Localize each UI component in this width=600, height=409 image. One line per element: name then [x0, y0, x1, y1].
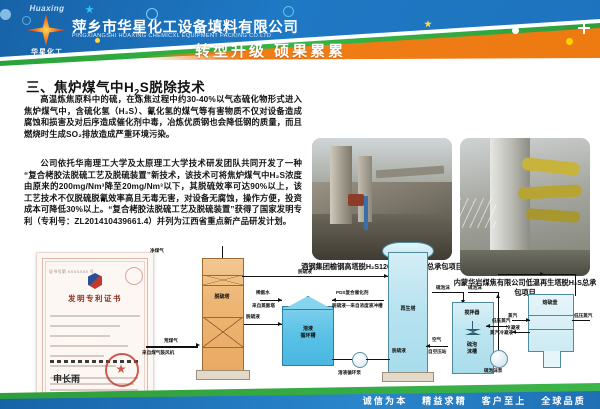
label-regen-tower: 再生塔 [389, 306, 427, 313]
article-paragraph-1: 高温炼焦原料中的硫，在炼焦过程中约30-40%以气态硫化物形式进入焦炉煤气中，含… [24, 94, 302, 140]
page-header: Huaxing 华星化工 萍乡市华星化工设备填料有限公司 PINGXIANGSH… [0, 0, 600, 66]
label-desulf-waste: 脱硫液—来自浓度液冲槽 [332, 303, 383, 309]
pipe-low-press-steam-2 [572, 320, 590, 321]
star-burst-icon [26, 14, 66, 46]
footer-slogan-1: 诚信为本 [363, 396, 408, 406]
certificate-red-seal [105, 353, 139, 387]
label-circulation-tank: 溶液循环槽 [284, 326, 332, 339]
pipe-circ-out [366, 359, 390, 360]
arrow-icon [496, 294, 500, 298]
pipe-pds-catalyst [332, 300, 384, 301]
certificate-number: 证书号第 XXXXXXX 号 [49, 269, 94, 275]
arrow-icon [196, 343, 200, 347]
photo-jiugang [312, 138, 452, 260]
footer-slogans: 诚信为本 精益求精 客户至上 全球品质 [0, 394, 600, 407]
pipe-sulfur-foam-1 [432, 292, 464, 293]
label-desulf-tower: 脱硫塔 [203, 294, 241, 301]
footer-slogan-3: 客户至上 [482, 396, 527, 406]
kettle-divider [529, 315, 573, 316]
photo-tower [490, 138, 530, 262]
arrow-icon [426, 344, 430, 348]
label-sulfur-foam-pump: 硫泡沫泵 [484, 368, 502, 374]
label-foam-tank: 硫泡沫槽 [453, 342, 491, 355]
certificate-line [50, 325, 120, 327]
tank-roof [282, 296, 334, 310]
decor-circle-filled [0, 9, 11, 20]
plus-icon [578, 22, 590, 34]
tower-foundation [196, 370, 250, 380]
tower-packing-icon [203, 275, 243, 285]
label-dilute-ammonia: 稀氨水 [256, 290, 270, 296]
tower-divider [203, 285, 243, 286]
footer-slogan-4: 全球品质 [541, 396, 586, 406]
footer-slogan-2: 精益求精 [422, 396, 467, 406]
logo-wordmark: Huaxing [14, 4, 80, 13]
label-desulf-liquid-side: 脱硫液 [246, 314, 260, 320]
label-air: 空气 [432, 337, 441, 343]
certificate-line [50, 335, 110, 337]
arrow-icon [526, 318, 530, 322]
label-raw-gas: 荒煤气 [164, 338, 178, 344]
pipe-clean-gas [222, 246, 223, 258]
label-clean-gas: 净煤气 [150, 248, 164, 254]
label-sulfur-foam-1: 硫泡沫 [436, 285, 450, 291]
certificate-stamp-circle [125, 267, 143, 285]
arrow-icon [278, 298, 282, 302]
vessel-desulf-tower [202, 258, 244, 372]
kettle-outlet [543, 351, 561, 368]
pipe-foam-riser [498, 292, 499, 350]
label-condensate: 冷凝液 [506, 325, 520, 331]
photo-yellow-pipe [526, 208, 581, 223]
label-from-air-station: 自空压站 [428, 349, 446, 355]
photo-scaffold [460, 198, 496, 228]
company-name-en: PINGXIANGSHI HUAXING CHEMICXL EQUIPMENT … [72, 33, 271, 39]
arrow-icon [486, 324, 490, 328]
label-stirrer: 搅拌器 [453, 310, 491, 317]
vessel-regen-tower [388, 252, 428, 374]
label-circulation-pump: 溶液循环泵 [338, 370, 361, 376]
arrow-icon [540, 272, 544, 276]
pipe-circ-in [332, 359, 352, 360]
paragraph-2-text: 公司依托华南理工大学及太原理工大学技术研发团队共同开发了一种“复合栲胶法脱硫工艺… [24, 158, 302, 226]
pipe-kettle-feed [498, 274, 576, 275]
photo-equipment [348, 194, 364, 206]
label-sulfur-kettle: 熔硫釜 [529, 300, 571, 307]
label-steam: 蒸汽 [508, 313, 517, 319]
page-footer: 诚信为本 精益求精 客户至上 全球品质 [0, 383, 600, 409]
label-pds-catalyst: PDS复合催化剂 [336, 290, 368, 296]
page-content: 三、焦炉煤气中H2S脱除技术 高温炼焦原料中的硫，在炼焦过程中约30-40%以气… [0, 66, 600, 383]
decor-dot-yellow [566, 38, 573, 45]
label-desulf-liquid-top: 脱硫液 [298, 269, 312, 275]
tower-divider [203, 347, 243, 348]
pipe-raw-gas [146, 346, 198, 348]
kettle-divider [529, 329, 573, 330]
section-title-prefix: 三、焦炉煤气中H [26, 80, 134, 95]
pipe-kettle-down [575, 274, 576, 296]
photo-yellow-pipe [518, 184, 583, 199]
label-sulfur-foam-2: 硫泡沫 [468, 285, 482, 291]
label-from-ammonia-tower: 来自蒸氨塔 [252, 303, 275, 309]
regen-foundation [382, 372, 434, 382]
pump-sulfur-foam [490, 350, 508, 368]
pipe-desulf-liquid-side [244, 324, 282, 325]
photo-tower [330, 146, 352, 224]
stirrer-icon [462, 321, 484, 335]
header-slogan: 转型升级 硕果累累 [195, 40, 346, 61]
label-from-blower: 来自煤气鼓风机 [142, 350, 174, 356]
photo-column [364, 196, 368, 230]
article-paragraph-2: 公司依托华南理工大学及太原理工大学技术研发团队共同开发了一种“复合栲胶法脱硫工艺… [24, 158, 302, 228]
tower-packing-icon [203, 317, 243, 347]
photo-yellow-pipe [521, 157, 580, 176]
certificate-line [50, 315, 140, 317]
label-low-press-steam-2: 低压蒸汽 [574, 313, 592, 319]
company-logo: Huaxing 华星化工 [14, 4, 80, 60]
process-flow-diagram: 净煤气 脱硫塔 荒煤气 来自煤气鼓风机 脱硫液 [156, 250, 596, 400]
arrow-icon [278, 322, 282, 326]
paragraph-1-text: 高温炼焦原料中的硫，在炼焦过程中约30-40%以气态硫化物形式进入焦炉煤气中，含… [24, 94, 302, 139]
arrow-icon [332, 298, 336, 302]
certificate-title: 发明专利证书 [37, 293, 153, 304]
pump-circulation [352, 352, 368, 368]
pipe-sulfur-foam-2 [468, 292, 498, 293]
certificate-line [50, 355, 104, 357]
section-title-suffix: S脱除技术 [140, 80, 206, 95]
brochure-page: Huaxing 华星化工 萍乡市华星化工设备填料有限公司 PINGXIANGSH… [0, 0, 600, 409]
label-desulf-liquid-right: 脱硫液 [392, 348, 406, 354]
pipe-desulf-liquid-top [242, 276, 388, 277]
decor-dot-white [512, 27, 519, 34]
certificate-line [50, 345, 128, 347]
